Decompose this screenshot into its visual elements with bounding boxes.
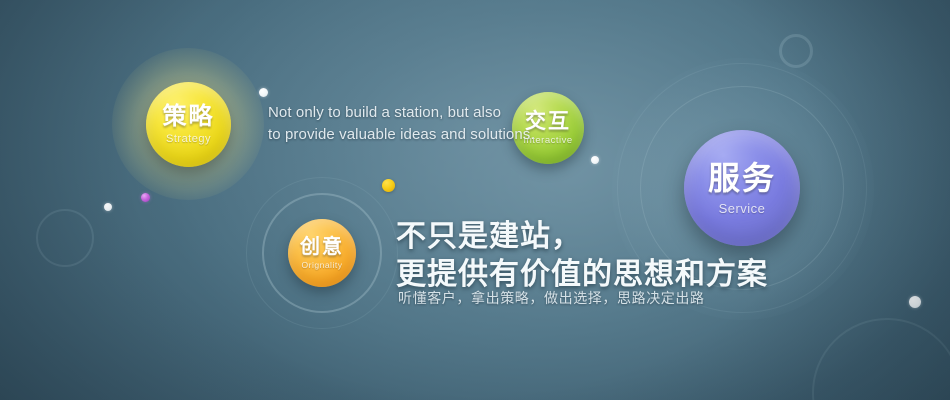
headline-line-1: 不只是建站， <box>396 218 768 256</box>
bubble-service-subtitle: Service <box>719 202 766 215</box>
decorative-ring-left <box>36 209 94 267</box>
decorative-dot-purple <box>141 193 150 202</box>
bubble-strategy[interactable]: 策略 Strategy <box>146 82 231 167</box>
bubble-service-title: 服务 <box>708 162 776 194</box>
decorative-dot-white-1 <box>259 88 268 97</box>
background-vignette <box>0 0 950 400</box>
bubble-originality-title: 创意 <box>300 237 344 257</box>
decorative-ring-bottom-right <box>812 318 950 400</box>
decorative-dot-white-2 <box>104 203 112 211</box>
bubble-strategy-subtitle: Strategy <box>166 134 211 145</box>
decorative-dot-white-4 <box>909 296 921 308</box>
tagline-english: Not only to build a station, but also to… <box>268 102 528 146</box>
decorative-dot-white-3 <box>591 156 599 164</box>
bubble-originality-subtitle: Orignality <box>302 261 343 270</box>
tagline-english-line-1: Not only to build a station, but also <box>268 102 528 124</box>
promo-banner: 策略 Strategy 交互 Interactive 创意 Orignality… <box>0 0 950 400</box>
headline-subtitle: 听懂客户，拿出策略，做出选择，思路决定出路 <box>398 288 705 308</box>
bubble-strategy-title: 策略 <box>163 105 215 129</box>
tagline-english-line-2: to provide valuable ideas and solutions. <box>268 124 528 146</box>
headline: 不只是建站， 更提供有价值的思想和方案 <box>396 218 768 295</box>
decorative-ring-top-right <box>779 34 813 68</box>
decorative-dot-yellow <box>382 179 395 192</box>
bubble-originality[interactable]: 创意 Orignality <box>288 219 356 287</box>
